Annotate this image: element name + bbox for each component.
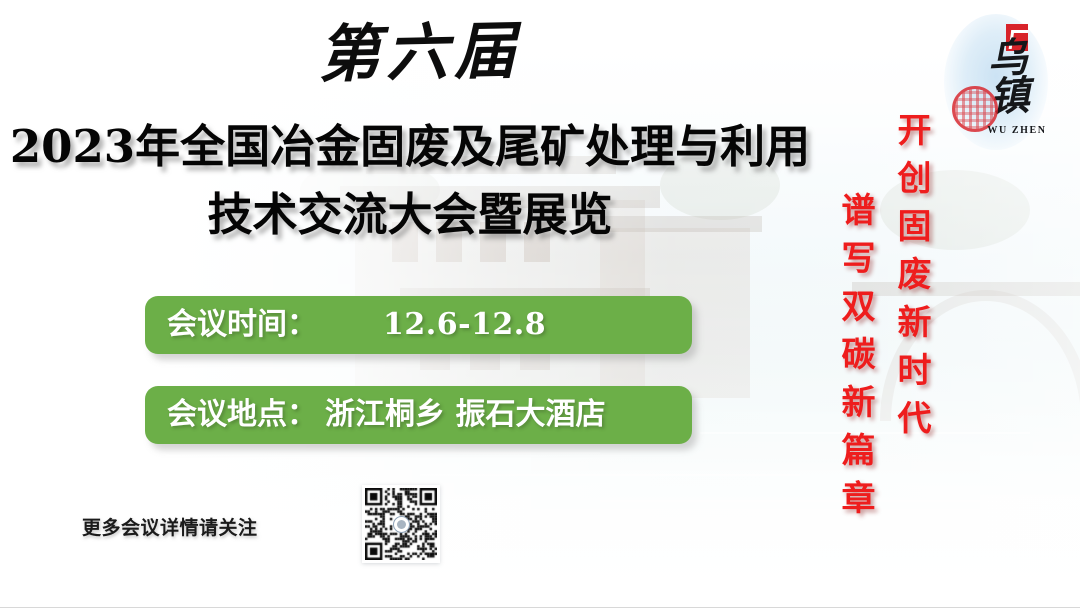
slogan-right-column: 开创固废新时代	[894, 112, 928, 448]
meeting-place-label: 会议地点：	[167, 400, 317, 430]
wuzhen-logo: 乌镇 WU ZHEN	[938, 14, 1058, 154]
logo-pinyin-text: WU ZHEN	[984, 125, 1050, 136]
qr-center-logo-icon	[393, 516, 410, 533]
page-title-line2: 技术交流大会暨展览	[0, 192, 820, 237]
qr-code-icon[interactable]	[362, 485, 440, 563]
slogan-left-column: 谱写双碳新篇章	[838, 192, 872, 528]
follow-prompt-text: 更多会议详情请关注	[82, 513, 258, 540]
meeting-time-label: 会议时间：	[167, 310, 317, 340]
meeting-place-banner: 会议地点： 浙江桐乡 振石大酒店	[145, 386, 692, 444]
meeting-time-banner: 会议时间： 12.6-12.8	[145, 296, 692, 354]
meeting-place-value: 浙江桐乡 振石大酒店	[325, 400, 605, 430]
conference-poster: 乌镇 WU ZHEN 第六届 2023年全国冶金固废及尾矿处理与利用 技术交流大…	[0, 0, 1080, 608]
page-title-line1: 2023年全国冶金固废及尾矿处理与利用	[0, 124, 820, 169]
meeting-time-value: 12.6-12.8	[383, 310, 546, 340]
